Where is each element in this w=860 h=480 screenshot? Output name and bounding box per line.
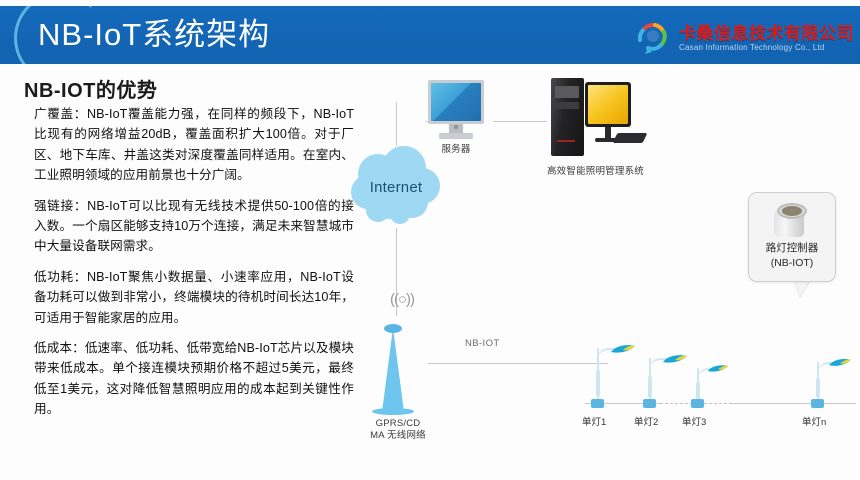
lamp-head-icon <box>662 354 688 365</box>
architecture-diagram: Internet 服务器 <box>330 66 860 476</box>
lamp-controller-callout: 路灯控制器 (NB-IOT) <box>748 192 836 282</box>
wireless-signal-icon: ((○)) <box>376 288 428 312</box>
callout-subtitle: (NB-IOT) <box>749 256 835 271</box>
server-node: 服务器 <box>425 80 487 156</box>
slide-header: NB-IoT系统架构 卡桑信息技术有限公司 Casan Information … <box>0 6 860 64</box>
link-server-to-management <box>493 121 547 122</box>
page-title: NB-IoT系统架构 <box>38 12 270 58</box>
link-antenna-to-lamps <box>428 363 608 364</box>
casan-brain-logo-icon <box>633 20 673 56</box>
section-subtitle: NB-IOT的优势 <box>24 74 157 103</box>
logo-company-name-cn: 卡桑信息技术有限公司 <box>679 25 854 42</box>
internet-cloud-icon: Internet <box>348 144 444 230</box>
logo-company-name-en: Casan Information Technology Co., Ltd <box>679 44 854 52</box>
lamp-controller-icon <box>769 201 815 239</box>
antenna-tower-icon <box>368 316 428 436</box>
street-lamp-2-label: 单灯2 <box>634 414 658 428</box>
management-workstation-icon <box>543 72 648 162</box>
paragraph-low-cost: 低成本：低速率、低功耗、低带宽给NB-IoT芯片以及模块带来低成本。单个接连模块… <box>34 338 354 420</box>
lamp-head-icon <box>707 364 733 375</box>
management-system-node: 高效智能照明管理系统 <box>543 72 648 178</box>
base-station-node: ((○)) GPRS/CD MA 无线网络 <box>368 316 428 442</box>
paragraph-strong-connection: 强链接：NB-IoT可以比现有无线技术提供50-100倍的接入数。一个扇区能够支… <box>34 196 354 257</box>
paragraph-low-power: 低功耗：NB-IoT聚焦小数据量、小速率应用，NB-IoT设备功耗可以做到非常小… <box>34 267 354 328</box>
street-lamp-3-label: 单灯3 <box>682 414 706 428</box>
street-lamp-1-label: 单灯1 <box>582 414 606 428</box>
street-lamp-n-label: 单灯n <box>802 414 826 428</box>
server-label: 服务器 <box>425 144 487 156</box>
monitor-icon <box>425 80 487 142</box>
management-system-label: 高效智能照明管理系统 <box>543 166 648 178</box>
street-lamp-2: 单灯2 <box>640 358 686 406</box>
callout-title: 路灯控制器 <box>749 241 835 256</box>
advantages-text-block: 广覆盖：NB-IoT覆盖能力强，在同样的频段下，NB-IoT比现有的网络增益20… <box>34 104 354 420</box>
street-lamp-1: 单灯1 <box>588 348 634 406</box>
link-monitor-down <box>396 102 397 146</box>
company-logo: 卡桑信息技术有限公司 Casan Information Technology … <box>633 16 854 60</box>
slide-canvas: NB-IoT系统架构 卡桑信息技术有限公司 Casan Information … <box>0 0 860 480</box>
street-lamp-3: 单灯3 <box>688 368 734 406</box>
lamp-head-icon <box>610 344 636 355</box>
street-lamp-n: 单灯n <box>808 362 854 406</box>
paragraph-wide-coverage: 广覆盖：NB-IoT覆盖能力强，在同样的频段下，NB-IoT比现有的网络增益20… <box>34 104 354 186</box>
lamp-head-icon <box>828 358 854 369</box>
nbiot-link-label: NB-IOT <box>465 338 500 349</box>
